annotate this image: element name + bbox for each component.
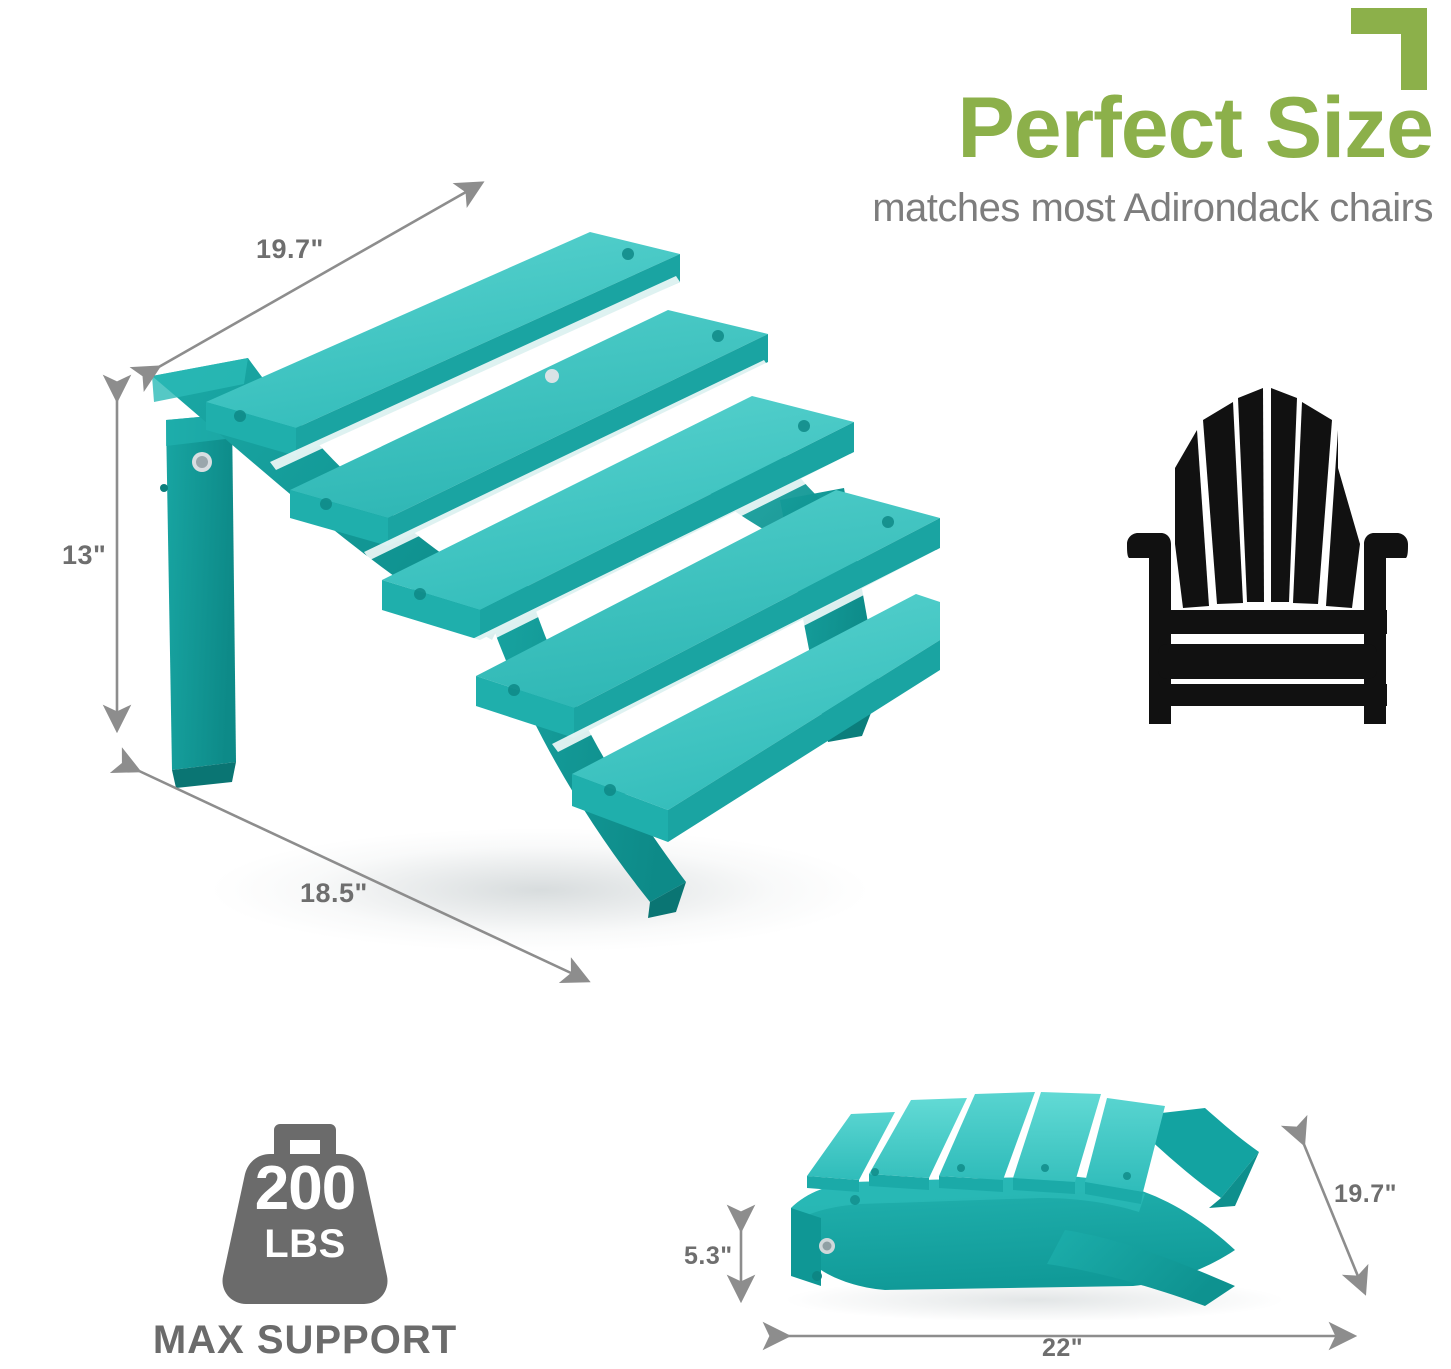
weight-unit: LBS (200, 1224, 410, 1264)
max-support-badge: 200 LBS MAX SUPPORT (140, 1124, 470, 1363)
corner-bracket-decoration (1351, 8, 1427, 90)
infographic-canvas: Perfect Size matches most Adirondack cha… (0, 0, 1451, 1369)
page-title: Perfect Size (533, 86, 1433, 170)
main-product-illustration (120, 170, 940, 970)
dimension-label-height: 13" (62, 540, 106, 571)
adirondack-chair-icon (1105, 372, 1435, 740)
dimension-label-folded-depth: 19.7" (1334, 1180, 1397, 1209)
ottoman-open-svg (120, 170, 940, 970)
corner-bracket-vertical-bar (1401, 8, 1427, 90)
max-support-label: MAX SUPPORT (140, 1318, 470, 1363)
chair-silhouette-svg (1105, 372, 1435, 740)
ottoman-folded-svg (735, 1080, 1315, 1320)
dimension-label-depth: 18.5" (300, 878, 368, 909)
weight-value: 200 (200, 1158, 410, 1220)
dimension-label-width: 19.7" (256, 234, 324, 265)
folded-product-illustration (735, 1080, 1315, 1320)
dimension-label-folded-width: 22" (1042, 1334, 1083, 1363)
dimension-label-folded-height: 5.3" (684, 1242, 733, 1271)
weight-icon: 200 LBS (200, 1124, 410, 1304)
